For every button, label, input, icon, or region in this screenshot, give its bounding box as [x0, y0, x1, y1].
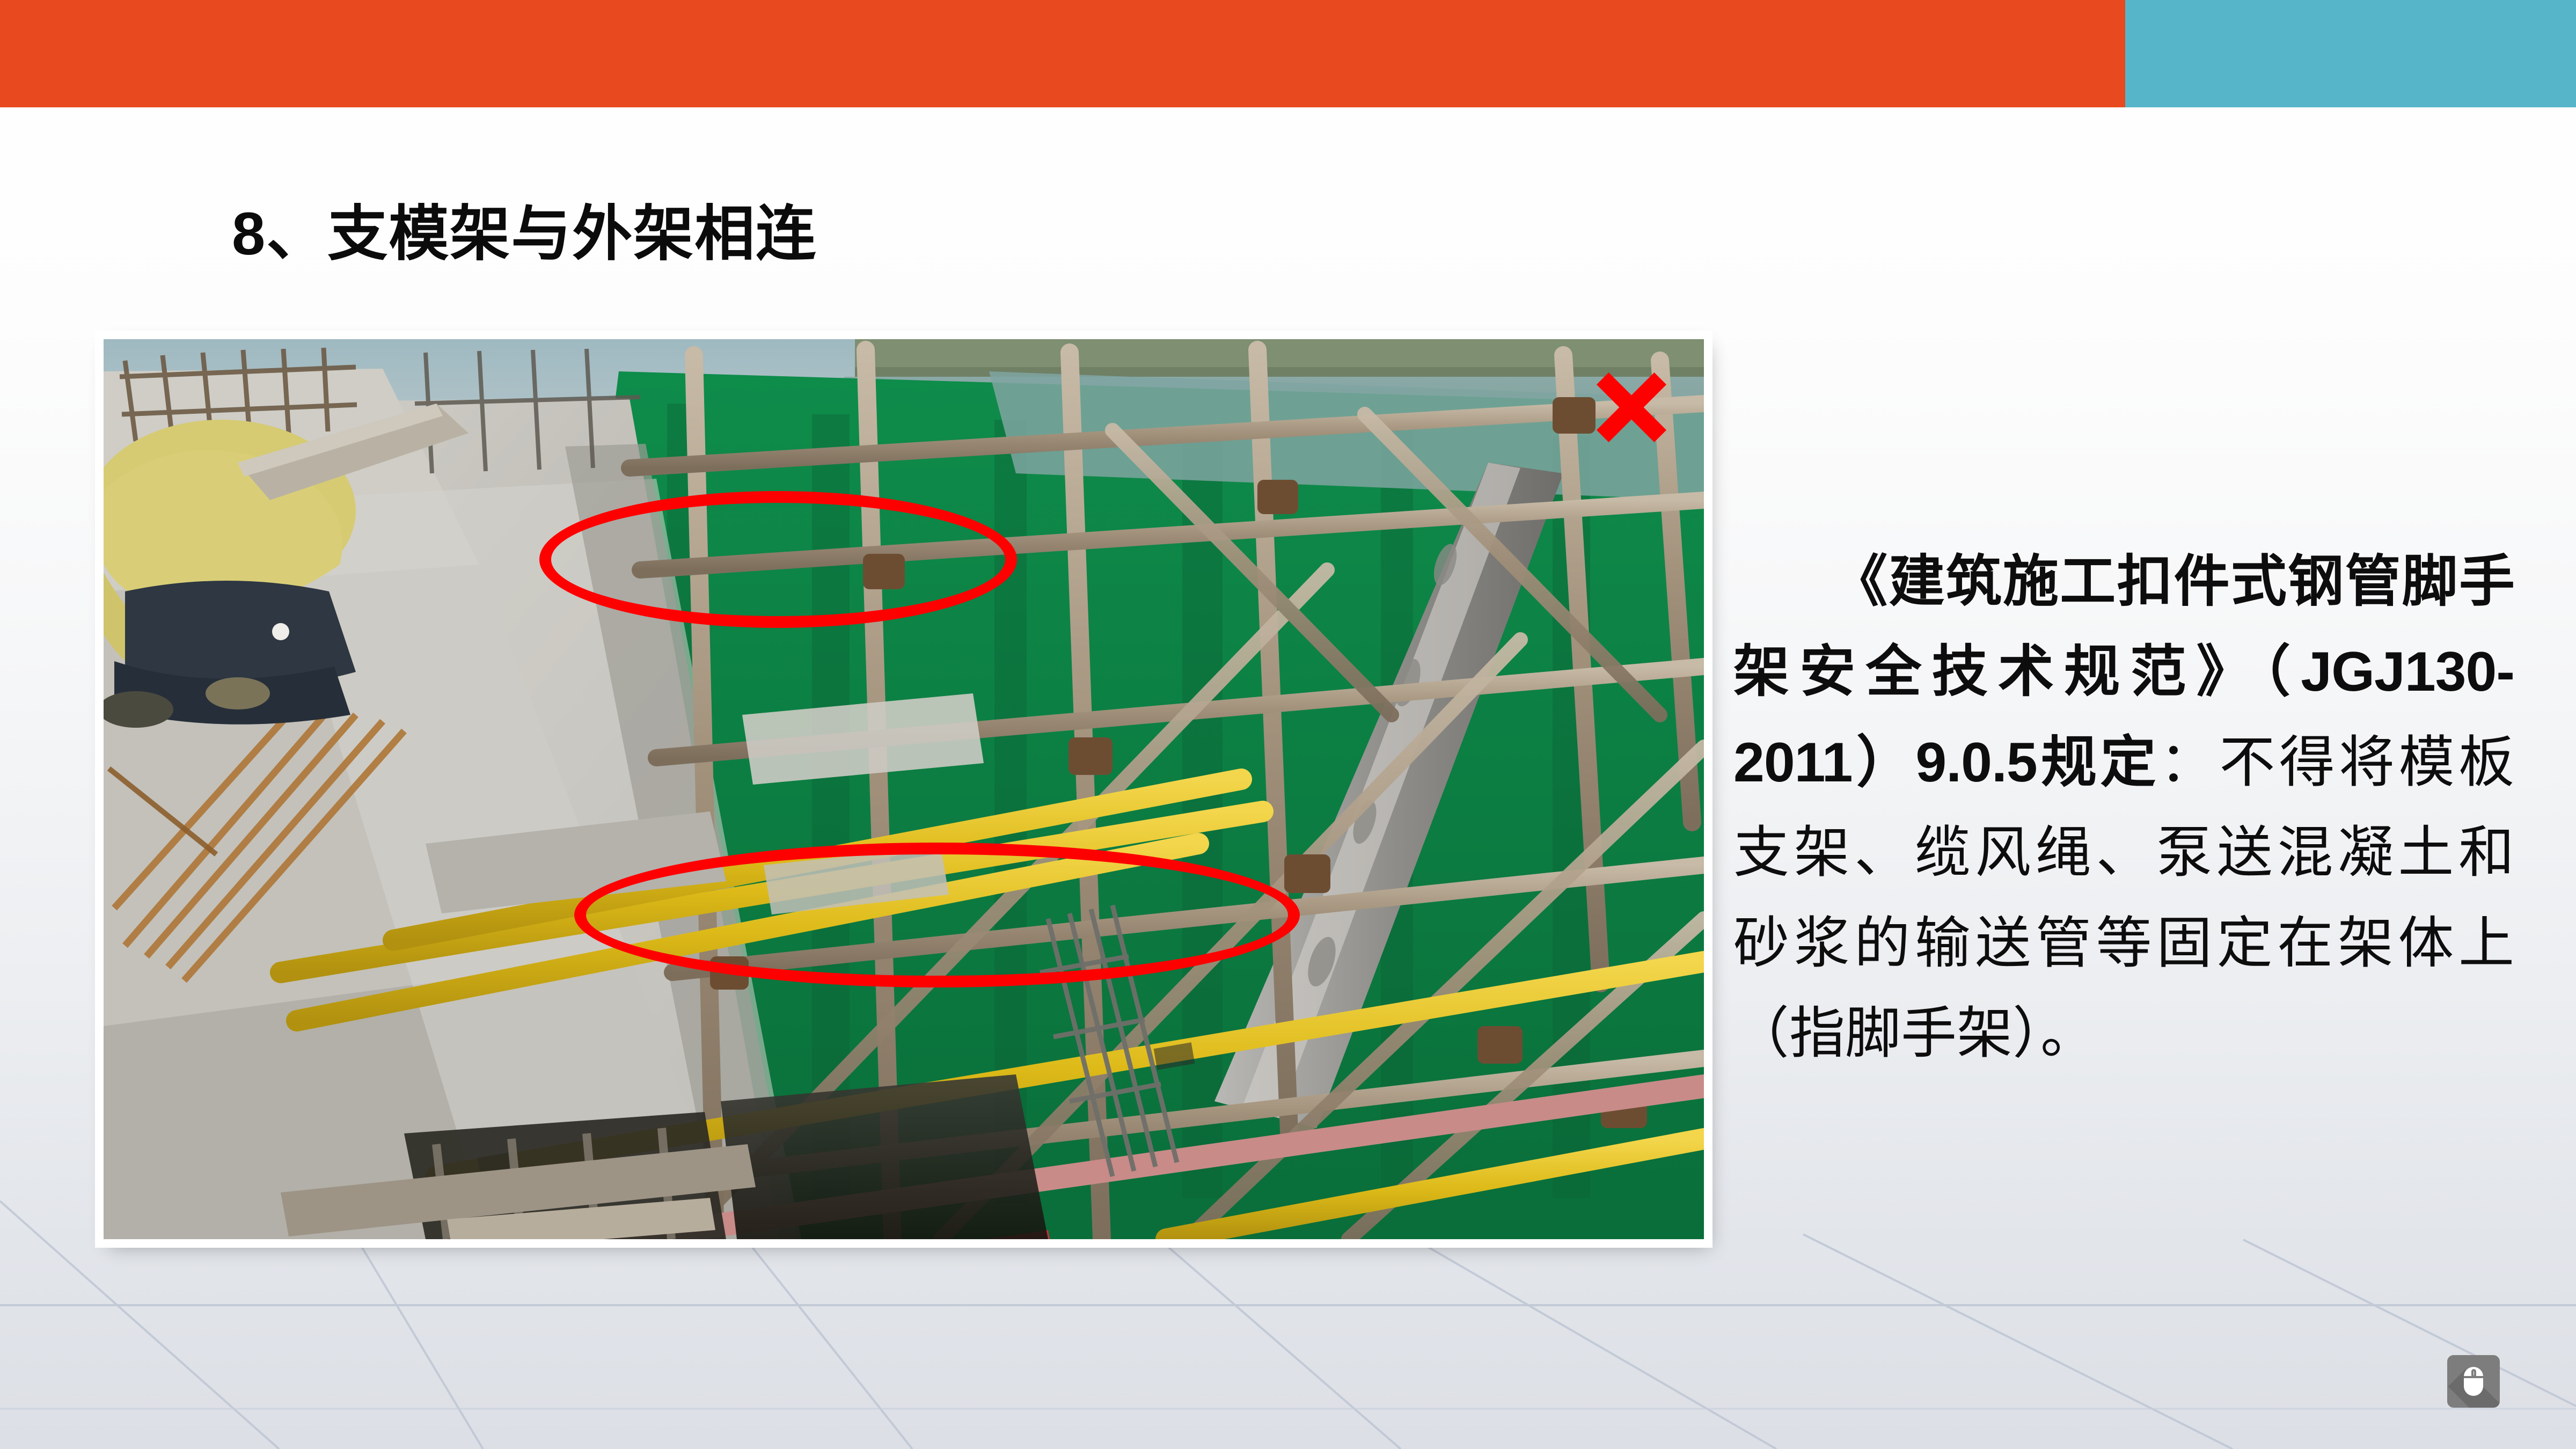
construction-photo-frame [104, 339, 1704, 1239]
topbar-orange-segment [0, 0, 2125, 107]
regulation-text-block: 《建筑施工扣件式钢管脚手架安全技术规范》（JGJ130-2011）9.0.5规定… [1733, 537, 2514, 1079]
photo-illustration [104, 339, 1704, 1239]
page-title: 8、支模架与外架相连 [232, 200, 817, 269]
construction-photo [104, 339, 1704, 1239]
slide-canvas: 8、支模架与外架相连 [0, 0, 2576, 1449]
topbar-teal-segment [2125, 0, 2576, 107]
mouse-icon-wheel [2471, 1369, 2476, 1378]
mouse-icon[interactable] [2447, 1355, 2500, 1408]
top-color-bar [0, 0, 2576, 107]
